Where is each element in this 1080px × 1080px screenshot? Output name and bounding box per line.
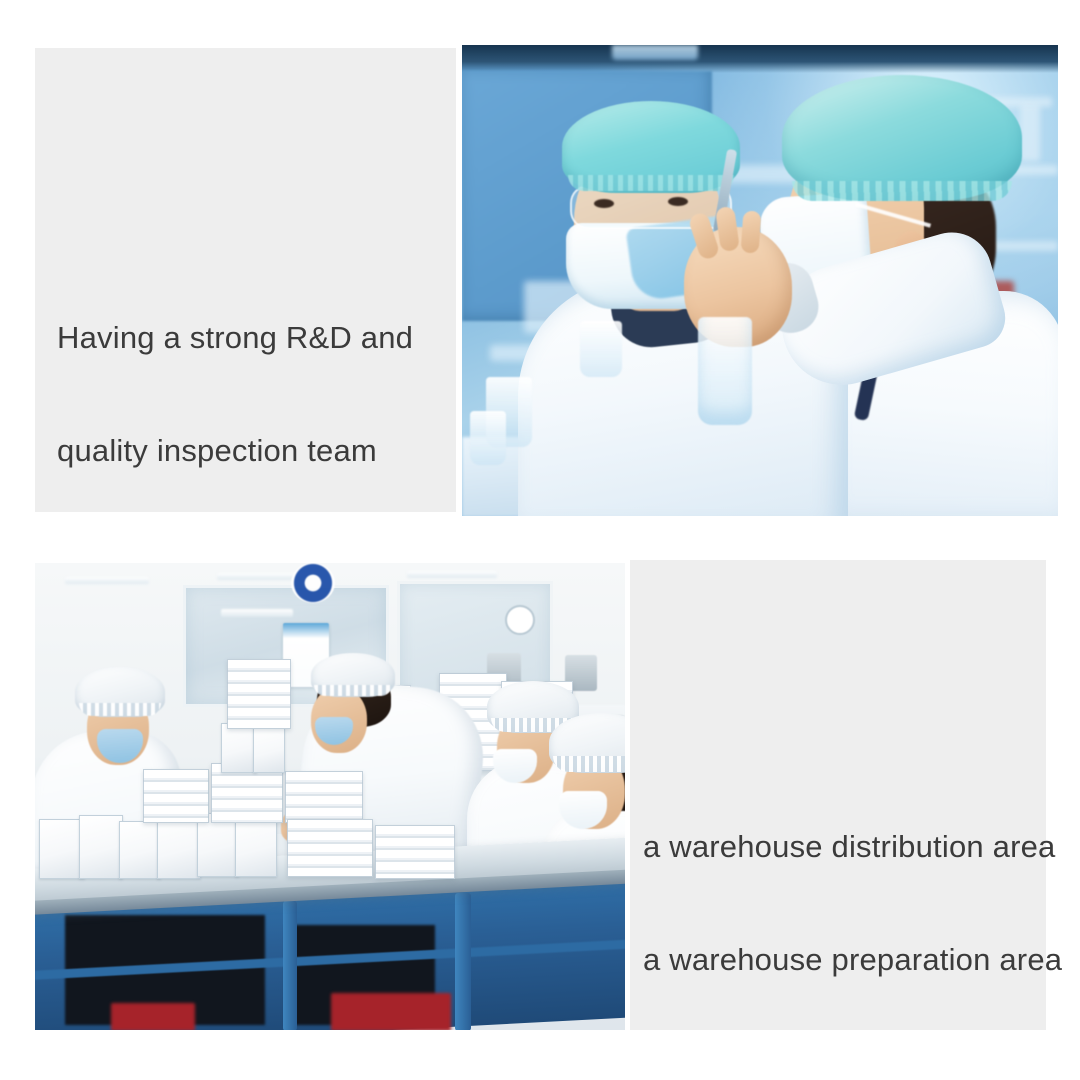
table-leg-2 bbox=[283, 901, 297, 1030]
lab-worker-left-eye-2 bbox=[668, 197, 688, 206]
carton-stack-front-2 bbox=[375, 825, 455, 879]
lab-inspection-photo bbox=[462, 45, 1058, 516]
white-bottle-2 bbox=[253, 727, 285, 773]
ceiling-light-3 bbox=[407, 571, 497, 578]
lab-worker-left-hairnet bbox=[562, 101, 740, 193]
warehouse-caption-line-1: a warehouse distribution area bbox=[643, 828, 1043, 866]
window-inner-light bbox=[221, 609, 293, 617]
carton-stack-mid-3 bbox=[285, 771, 363, 823]
rnd-caption-line-2: quality inspection team bbox=[57, 432, 447, 470]
carton-2 bbox=[79, 815, 123, 879]
lab-bottle-3 bbox=[1020, 105, 1040, 161]
warehouse-worker-2-hairnet bbox=[311, 653, 395, 697]
lab-beaker-2 bbox=[470, 411, 506, 465]
rnd-caption-line-1: Having a strong R&D and bbox=[57, 319, 447, 357]
red-crate-2 bbox=[111, 1003, 195, 1030]
lab-worker-left-eye-1 bbox=[594, 199, 614, 208]
lab-ceiling-light bbox=[612, 45, 698, 60]
lab-worker-right-hairnet bbox=[782, 75, 1022, 201]
white-bottle-1 bbox=[221, 723, 257, 773]
carton-6 bbox=[235, 817, 277, 877]
rnd-caption: Having a strong R&D and quality inspecti… bbox=[57, 243, 447, 546]
carton-stack-front-1 bbox=[287, 819, 373, 877]
ceiling-light-1 bbox=[65, 577, 149, 584]
lab-beaker-3 bbox=[580, 321, 622, 377]
warehouse-worker-1-hairnet bbox=[75, 667, 165, 717]
carton-stack-back-4 bbox=[227, 659, 291, 729]
wall-clock-icon bbox=[505, 605, 535, 635]
lab-glass-vial bbox=[698, 317, 752, 425]
page-root: Having a strong R&D and quality inspecti… bbox=[0, 0, 1080, 1080]
lab-finger-3 bbox=[741, 210, 762, 253]
red-crate-1 bbox=[331, 993, 451, 1030]
warehouse-caption: a warehouse distribution area a warehous… bbox=[643, 752, 1043, 1055]
company-logo-icon bbox=[291, 563, 335, 603]
lab-ceiling-band bbox=[462, 45, 1058, 73]
carton-4 bbox=[157, 817, 201, 879]
warehouse-caption-line-2: a warehouse preparation area bbox=[643, 941, 1043, 979]
table-leg-1 bbox=[455, 893, 471, 1030]
carton-3 bbox=[119, 821, 161, 879]
warehouse-packing-photo bbox=[35, 563, 625, 1030]
carton-stack-mid-1 bbox=[143, 769, 209, 823]
